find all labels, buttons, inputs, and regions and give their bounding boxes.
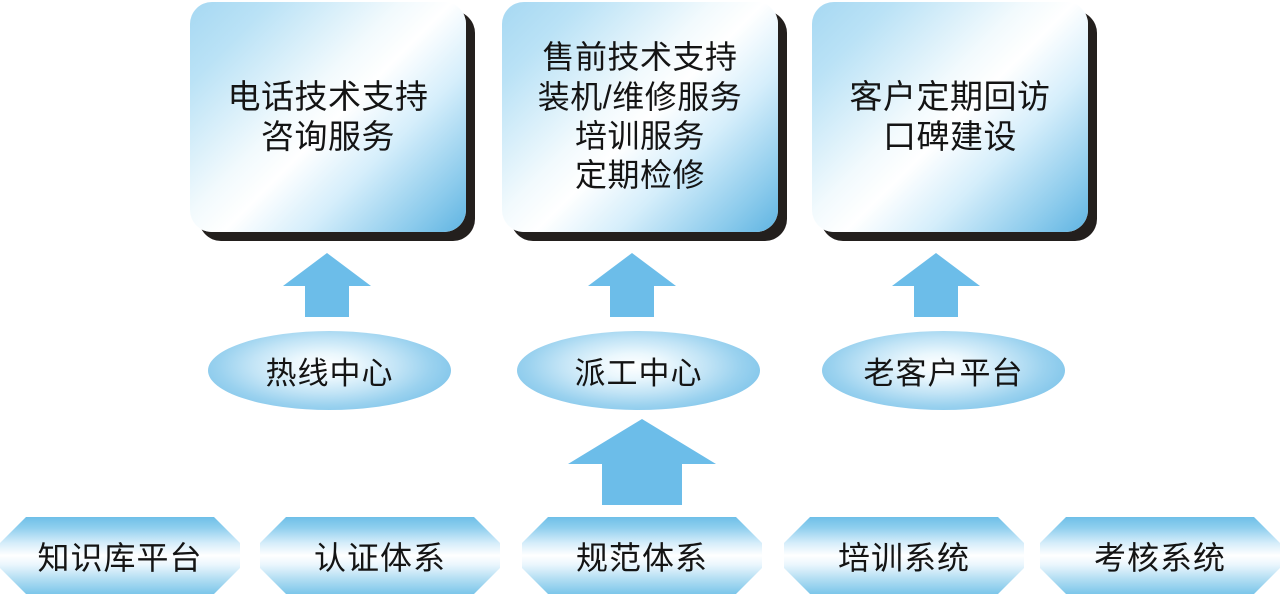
arrow-up-dispatch-to-presale — [588, 253, 676, 317]
service-box-phone-support[interactable]: 电话技术支持 咨询服务 — [190, 2, 466, 232]
center-label: 派工中心 — [575, 348, 703, 393]
platform-chip-label: 考核系统 — [1094, 533, 1226, 579]
platform-chip-training-system[interactable]: 培训系统 — [784, 517, 1024, 594]
platform-chip-label: 规范体系 — [576, 533, 708, 579]
platform-chip-standards-system[interactable]: 规范体系 — [522, 517, 762, 594]
platform-chip-label: 培训系统 — [838, 533, 970, 579]
platform-chip-assessment-system[interactable]: 考核系统 — [1040, 517, 1280, 594]
service-box-label: 电话技术支持 咨询服务 — [228, 77, 429, 158]
service-box-label: 售前技术支持 装机/维修服务 培训服务 定期检修 — [538, 38, 742, 195]
diagram-canvas: 电话技术支持 咨询服务 售前技术支持 装机/维修服务 培训服务 定期检修 客户定… — [0, 0, 1280, 594]
center-dispatch-center[interactable]: 派工中心 — [517, 331, 760, 410]
center-label: 老客户平台 — [864, 348, 1024, 393]
platform-chip-label: 认证体系 — [314, 533, 446, 579]
service-box-label: 客户定期回访 口碑建设 — [850, 77, 1051, 158]
platform-chip-knowledge-base-platform[interactable]: 知识库平台 — [0, 517, 240, 594]
service-box-customer-revisit[interactable]: 客户定期回访 口碑建设 — [812, 2, 1088, 232]
center-legacy-customer-platform[interactable]: 老客户平台 — [822, 331, 1065, 410]
arrow-up-legacy-to-revisit — [892, 253, 980, 317]
platform-chip-label: 知识库平台 — [37, 533, 202, 579]
center-hotline-center[interactable]: 热线中心 — [208, 331, 451, 410]
platform-chip-certification-system[interactable]: 认证体系 — [260, 517, 500, 594]
center-label: 热线中心 — [266, 348, 394, 393]
arrow-up-standards-to-dispatch — [568, 419, 716, 505]
service-box-presale-install-train-maintain[interactable]: 售前技术支持 装机/维修服务 培训服务 定期检修 — [502, 2, 778, 232]
arrow-up-hotline-to-phone-support — [283, 253, 371, 317]
